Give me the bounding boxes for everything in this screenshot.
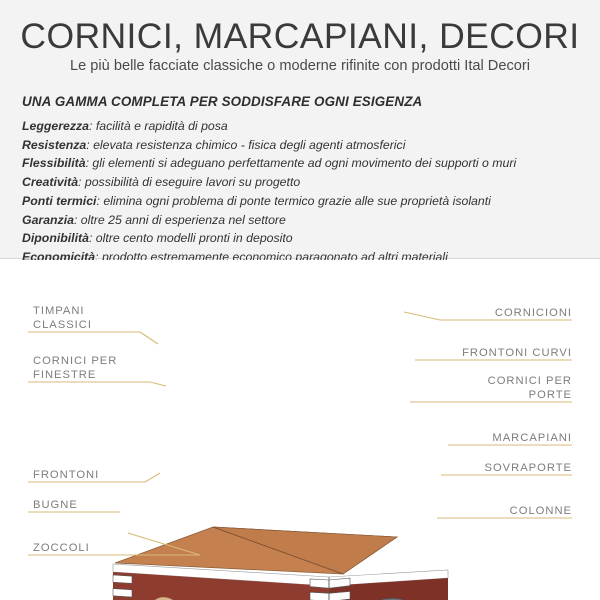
page-title: CORNICI, MARCAPIANI, DECORI [0,16,600,57]
label-frontoni: FRONTONI [33,468,99,482]
label-zoccoli: ZOCCOLI [33,541,90,555]
label-cornici-per-finestre: CORNICI PERFINESTRE [33,354,117,382]
label-marcapiani: MARCAPIANI [492,431,572,445]
bugna-block [310,592,329,600]
feature-item: Creatività: possibilità di eseguire lavo… [22,173,582,192]
feature-term: Resistenza [22,138,86,152]
feature-item: Leggerezza: facilità e rapidità di posa [22,117,582,136]
feature-desc: : elevata resistenza chimico - fisica de… [86,138,405,152]
features-heading: UNA GAMMA COMPLETA PER SODDISFARE OGNI E… [22,94,422,109]
bugna-block [113,589,132,597]
label-cornici-per-porte: CORNICI PERPORTE [488,374,572,402]
label-timpani-classici: TIMPANICLASSICI [33,304,92,332]
feature-term: Leggerezza [22,119,89,133]
feature-term: Diponibilità [22,231,89,245]
feature-term: Ponti termici [22,194,96,208]
label-frontoni-curvi: FRONTONI CURVI [462,346,572,360]
label-cornicioni: CORNICIONI [495,306,572,320]
feature-item: Flessibilità: gli elementi si adeguano p… [22,154,582,173]
label-bugne: BUGNE [33,498,78,512]
feature-term: Garanzia [22,213,74,227]
infographic-page: CORNICI, MARCAPIANI, DECORI Le più belle… [0,0,600,600]
feature-desc: : oltre 25 anni di esperienza nel settor… [74,213,286,227]
feature-desc: : facilità e rapidità di posa [89,119,228,133]
feature-item: Ponti termici: elimina ogni problema di … [22,192,582,211]
text-panel: CORNICI, MARCAPIANI, DECORI Le più belle… [0,0,600,259]
bugna-block [310,579,329,588]
feature-desc: : gli elementi si adeguano perfettamente… [86,156,517,170]
feature-term: Creatività [22,175,78,189]
building-illustration-panel: TIMPANICLASSICI CORNICI PERFINESTRE FRON… [0,260,600,600]
feature-item: Resistenza: elevata resistenza chimico -… [22,136,582,155]
feature-desc: : elimina ogni problema di ponte termico… [96,194,490,208]
page-subtitle: Le più belle facciate classiche o modern… [0,58,600,74]
bugna-block [113,575,132,583]
features-list: Leggerezza: facilità e rapidità di posaR… [22,117,582,267]
feature-item: Garanzia: oltre 25 anni di esperienza ne… [22,211,582,230]
feature-item: Diponibilità: oltre cento modelli pronti… [22,229,582,248]
feature-desc: : possibilità di eseguire lavori su prog… [78,175,300,189]
feature-term: Flessibilità [22,156,86,170]
feature-desc: : oltre cento modelli pronti in deposito [89,231,293,245]
label-colonne: COLONNE [510,504,572,518]
label-sovraporte: SOVRAPORTE [484,461,572,475]
